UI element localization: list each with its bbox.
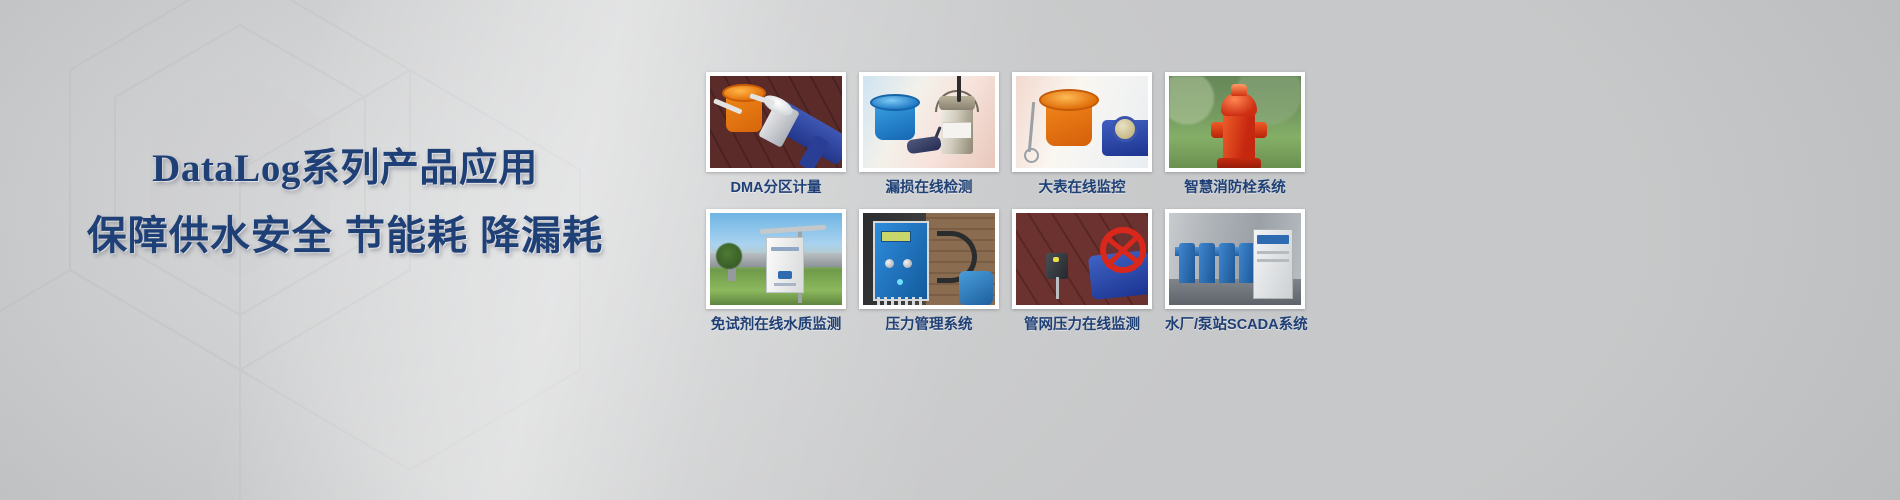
large-meter-monitoring-thumbnail[interactable] (1012, 72, 1152, 172)
product-card-leak-detection[interactable]: 漏损在线检测 (859, 72, 999, 197)
product-card-water-quality-monitoring[interactable]: 免试剂在线水质监测 (706, 209, 846, 334)
product-row-2: 免试剂在线水质监测 压力管理系统 (706, 209, 1846, 334)
promotional-banner: DataLog系列产品应用 保障供水安全 节能耗 降漏耗 (0, 0, 1900, 500)
product-caption: 压力管理系统 (859, 316, 999, 334)
product-card-large-meter-monitoring[interactable]: 大表在线监控 (1012, 72, 1152, 197)
product-card-dma-metering[interactable]: DMA分区计量 (706, 72, 846, 197)
dma-metering-thumbnail[interactable] (706, 72, 846, 172)
product-card-pressure-management[interactable]: 压力管理系统 (859, 209, 999, 334)
pipe-network-pressure-thumbnail[interactable] (1012, 209, 1152, 309)
product-card-pipe-network-pressure[interactable]: 管网压力在线监测 (1012, 209, 1152, 334)
product-caption: 免试剂在线水质监测 (706, 316, 846, 334)
pressure-management-thumbnail[interactable] (859, 209, 999, 309)
product-caption: 管网压力在线监测 (1012, 316, 1152, 334)
headline-block: DataLog系列产品应用 保障供水安全 节能耗 降漏耗 (0, 146, 690, 260)
headline-secondary: 保障供水安全 节能耗 降漏耗 (0, 212, 690, 260)
product-card-scada-system[interactable]: 水厂/泵站SCADA系统 (1165, 209, 1305, 334)
product-application-grid: DMA分区计量 漏损在线检测 (706, 72, 1846, 334)
product-caption: DMA分区计量 (706, 179, 846, 197)
scada-system-thumbnail[interactable] (1165, 209, 1305, 309)
headline-primary: DataLog系列产品应用 (0, 146, 690, 192)
water-quality-monitoring-thumbnail[interactable] (706, 209, 846, 309)
product-caption: 大表在线监控 (1012, 179, 1152, 197)
product-caption: 智慧消防栓系统 (1165, 179, 1305, 197)
product-caption: 漏损在线检测 (859, 179, 999, 197)
product-caption: 水厂/泵站SCADA系统 (1165, 316, 1305, 334)
product-card-smart-hydrant[interactable]: 智慧消防栓系统 (1165, 72, 1305, 197)
leak-detection-thumbnail[interactable] (859, 72, 999, 172)
product-row-1: DMA分区计量 漏损在线检测 (706, 72, 1846, 197)
smart-hydrant-thumbnail[interactable] (1165, 72, 1305, 172)
